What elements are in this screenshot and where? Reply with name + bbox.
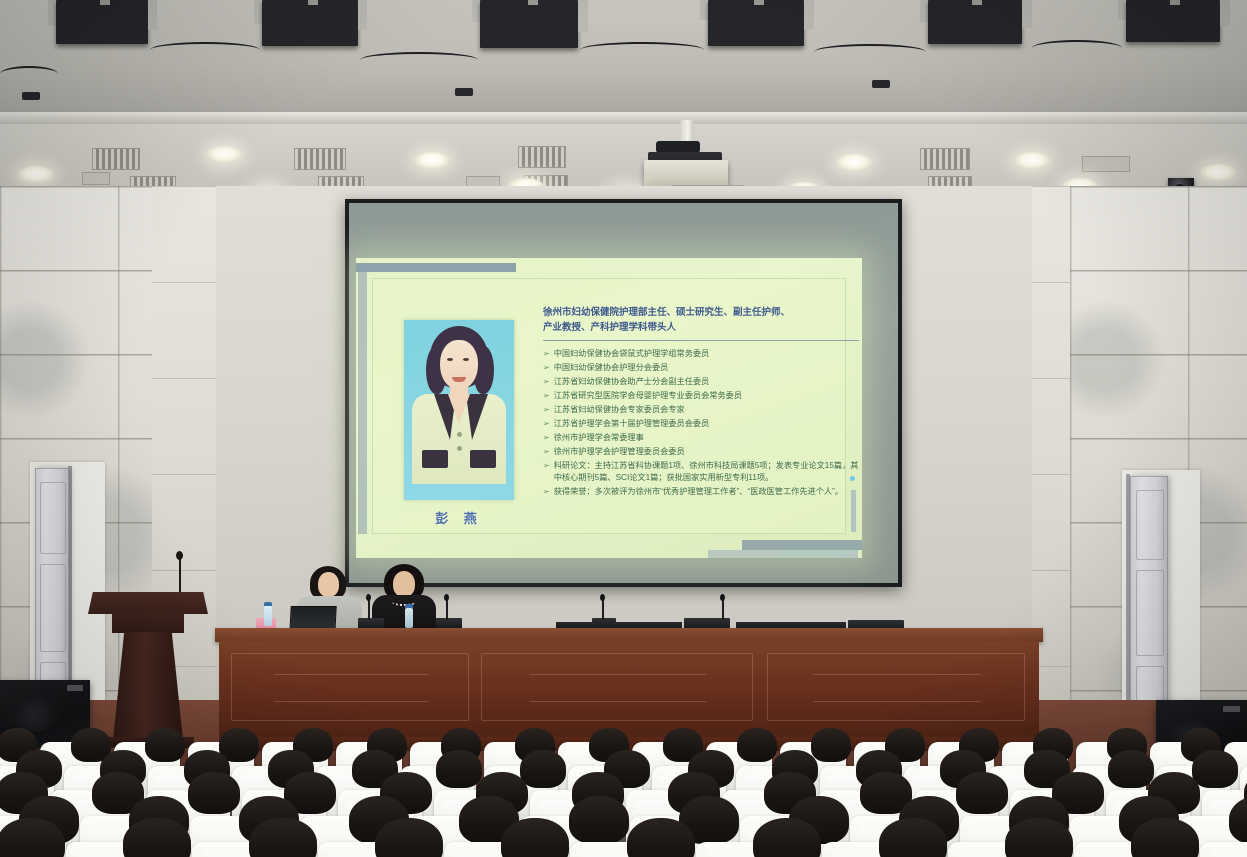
desk-microphone-stem: [722, 598, 724, 620]
slide-title-divider: [543, 340, 859, 341]
cable-junction-box: [455, 88, 473, 96]
slide-title-line-1: 徐州市妇幼保健院护理部主任、硕士研究生、副主任护师、: [543, 305, 861, 320]
ceiling-downlight: [414, 152, 450, 169]
slide-bullet-item: ➢中国妇幼保健协会护理分会委员: [543, 362, 863, 374]
cable-junction-box: [22, 92, 40, 100]
desk-microphone-stem: [368, 598, 370, 620]
ceiling-downlight: [836, 154, 872, 171]
bullet-arrow-icon: ➢: [543, 418, 550, 430]
podium-neck: [112, 613, 184, 633]
audience-member-head: [753, 818, 821, 857]
bottle-cap: [405, 604, 413, 608]
slide-bullet-item: ➢中国妇幼保健协会袋鼠式护理学组常务委员: [543, 348, 863, 360]
slide-bullet-text: 中国妇幼保健协会护理分会委员: [554, 362, 863, 374]
speaker-bracket: [254, 0, 262, 24]
speaker-bracket: [578, 0, 588, 32]
desk-microphone-stem: [602, 598, 604, 620]
slide-title-line-2: 产业教授、产科护理学科带头人: [543, 320, 861, 335]
auditorium-scene: 彭 燕 徐州市妇幼保健院护理部主任、硕士研究生、副主任护师、 产业教授、产科护理…: [0, 0, 1247, 857]
slide-bullet-item: ➢徐州市护理学会护理管理委员会委员: [543, 446, 863, 458]
slide-title: 徐州市妇幼保健院护理部主任、硕士研究生、副主任护师、 产业教授、产科护理学科带头…: [543, 305, 861, 335]
audience-member-head: [520, 750, 566, 788]
slide-bullet-text: 徐州市护理学会常委理事: [554, 432, 863, 444]
audience-member-head: [811, 728, 851, 762]
ceiling-speaker: [262, 0, 358, 46]
bullet-arrow-icon: ➢: [543, 432, 550, 444]
ceiling-speaker: [56, 0, 148, 44]
desk-microphone-head: [600, 594, 605, 601]
speaker-bracket: [1220, 0, 1230, 26]
hvac-vent: [92, 148, 140, 170]
slide-accent-bar-top: [356, 263, 516, 272]
water-bottle: [264, 606, 272, 626]
audience-member-head: [249, 818, 317, 857]
desk-microphone-head: [720, 594, 725, 601]
slide-bullet-text: 江苏省妇幼保健协会助产士分会副主任委员: [554, 376, 863, 388]
audience-member-head: [1131, 818, 1199, 857]
person-left-head: [318, 572, 339, 597]
slide-bullet-item: ➢获得荣誉：多次被评为徐州市“优秀护理管理工作者”、“医政医管工作先进个人”。: [543, 486, 863, 498]
speaker-bracket: [1022, 0, 1032, 28]
ceiling-speaker: [708, 0, 804, 46]
slide-bullet-item: ➢科研论文：主持江苏省科协课题1项、徐州市科技局课题5项；发表专业论文15篇，其…: [543, 460, 863, 485]
speaker-bracket: [700, 0, 708, 20]
audience-member-head: [879, 818, 947, 857]
bullet-arrow-icon: ➢: [543, 348, 550, 360]
slide-bullet-text: 江苏省护理学会第十届护理管理委员会委员: [554, 418, 863, 430]
slide-bullet-item: ➢江苏省妇幼保健协会专家委员会专家: [543, 404, 863, 416]
audience-member-head: [436, 750, 482, 788]
audience-member-head: [1005, 818, 1073, 857]
slide-accent-bar-bottom-right: [742, 540, 862, 550]
bullet-arrow-icon: ➢: [543, 390, 550, 402]
upper-ceiling: [0, 0, 1247, 120]
desk-microphone-stem: [446, 598, 448, 620]
audience-chair: [1200, 842, 1247, 857]
audience-member-head: [501, 818, 569, 857]
slide-bullet-text: 江苏省研究型医院学会母婴护理专业委员会常务委员: [554, 390, 863, 402]
slide-accent-bar-left: [358, 272, 367, 534]
ceiling-downlight: [1200, 164, 1236, 181]
hvac-vent: [294, 148, 346, 170]
bullet-arrow-icon: ➢: [543, 460, 550, 485]
slide-bullet-text: 中国妇幼保健协会袋鼠式护理学组常务委员: [554, 348, 863, 360]
speaker-portrait-photo: [404, 320, 514, 500]
audience-member-head: [375, 818, 443, 857]
podium-top: [88, 592, 208, 614]
bottle-cap: [264, 602, 272, 606]
slide-bullet-item: ➢徐州市护理学会常委理事: [543, 432, 863, 444]
ceiling-downlight: [206, 146, 242, 163]
speaker-name: 彭 燕: [404, 508, 514, 527]
audience-member-head: [627, 818, 695, 857]
hvac-vent: [82, 172, 110, 185]
person-right-head: [393, 571, 415, 597]
speaker-bracket: [48, 0, 56, 26]
slide-bullet-item: ➢江苏省护理学会第十届护理管理委员会委员: [543, 418, 863, 430]
ceiling-cable: [580, 42, 704, 58]
ceiling-cable: [814, 44, 926, 60]
bullet-arrow-icon: ➢: [543, 404, 550, 416]
bullet-arrow-icon: ➢: [543, 446, 550, 458]
podium-microphone-head: [176, 551, 183, 560]
ceiling-speaker: [928, 0, 1022, 44]
slide-bullet-text: 科研论文：主持江苏省科协课题1项、徐州市科技局课题5项；发表专业论文15篇，其中…: [554, 460, 863, 485]
ceiling-cable: [150, 42, 260, 58]
speaker-bracket: [920, 0, 928, 22]
audience-member-head: [569, 796, 629, 844]
slide-bullet-text: 获得荣誉：多次被评为徐州市“优秀护理管理工作者”、“医政医管工作先进个人”。: [554, 486, 863, 498]
ceiling-downlight: [1014, 152, 1050, 169]
slide-bullet-item: ➢江苏省妇幼保健协会助产士分会副主任委员: [543, 376, 863, 388]
ceiling-cable: [1032, 40, 1122, 56]
audience-member-head: [123, 818, 191, 857]
bullet-arrow-icon: ➢: [543, 486, 550, 498]
desk-microphone-head: [444, 594, 449, 601]
speaker-bracket: [148, 0, 157, 30]
audience-member-head: [145, 728, 185, 762]
cable-junction-box: [872, 80, 890, 88]
speaker-bracket: [472, 0, 480, 22]
ceiling-downlight: [18, 166, 54, 183]
desk-microphone-head: [366, 594, 371, 601]
audience-member-head: [188, 772, 240, 814]
bullet-arrow-icon: ➢: [543, 376, 550, 388]
audience-member-head: [737, 728, 777, 762]
speaker-bracket: [804, 0, 814, 30]
ceiling-cable: [0, 66, 58, 82]
slide-bullet-list: ➢中国妇幼保健协会袋鼠式护理学组常务委员➢中国妇幼保健协会护理分会委员➢江苏省妇…: [543, 348, 863, 500]
ceiling-cable: [360, 52, 478, 68]
speaker-bracket: [1118, 0, 1126, 20]
hvac-vent: [1082, 156, 1130, 172]
speaker-bracket: [358, 0, 367, 30]
hvac-vent: [518, 146, 566, 168]
head-table-front: [219, 641, 1039, 741]
ceiling-speaker: [480, 0, 578, 48]
slide-accent-bar-bottom-right-2: [708, 550, 858, 558]
head-table-top: [215, 628, 1043, 642]
podium-microphone: [179, 556, 181, 596]
podium: [113, 632, 183, 740]
audience-member-head: [956, 772, 1008, 814]
slide-bullet-text: 江苏省妇幼保健协会专家委员会专家: [554, 404, 863, 416]
slide-bullet-text: 徐州市护理学会护理管理委员会委员: [554, 446, 863, 458]
bullet-arrow-icon: ➢: [543, 362, 550, 374]
ceiling-speaker: [1126, 0, 1220, 42]
audience-member-head: [1108, 750, 1154, 788]
water-bottle: [405, 608, 413, 628]
hvac-vent: [920, 148, 970, 170]
slide-bullet-item: ➢江苏省研究型医院学会母婴护理专业委员会常务委员: [543, 390, 863, 402]
audience-member-head: [1192, 750, 1238, 788]
